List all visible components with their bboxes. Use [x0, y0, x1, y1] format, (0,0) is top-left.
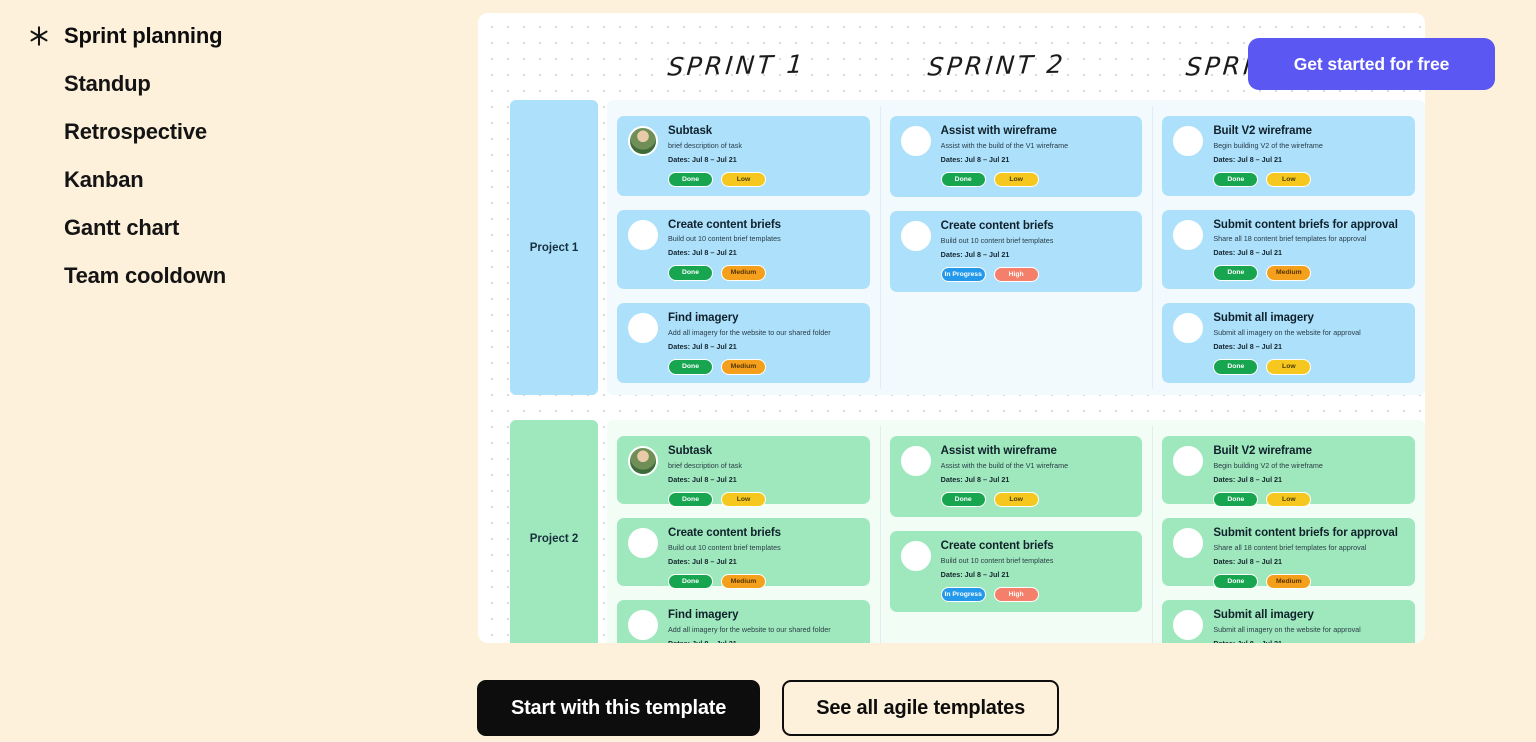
task-description: Submit all imagery on the website for ap…	[1213, 328, 1404, 337]
task-dates: Dates: Jul 8 – Jul 21	[941, 250, 1132, 259]
sidebar-item-label: Retrospective	[64, 119, 207, 145]
status-badge[interactable]: Done	[668, 492, 713, 507]
task-card[interactable]: Create content briefsBuild out 10 conten…	[617, 210, 870, 290]
task-description: Build out 10 content brief templates	[941, 556, 1132, 565]
task-badges: DoneLow	[941, 492, 1132, 507]
status-badge[interactable]: Done	[941, 492, 986, 507]
task-dates: Dates: Jul 8 – Jul 21	[668, 475, 859, 484]
sidebar-item-sprint-planning[interactable]: Sprint planning	[0, 12, 480, 60]
task-card-body: Submit all imagerySubmit all imagery on …	[1213, 312, 1404, 374]
task-title: Subtask	[668, 125, 859, 138]
task-card[interactable]: Assist with wireframeAssist with the bui…	[890, 436, 1143, 517]
task-title: Create content briefs	[941, 540, 1132, 553]
task-card-body: Subtaskbrief description of taskDates: J…	[668, 125, 859, 187]
avatar	[1173, 126, 1203, 156]
sprint-column-1: Subtaskbrief description of taskDates: J…	[607, 420, 880, 643]
task-title: Built V2 wireframe	[1213, 445, 1404, 458]
task-title: Built V2 wireframe	[1213, 125, 1404, 138]
task-dates: Dates: Jul 8 – Jul 21	[941, 475, 1132, 484]
sidebar-item-label: Gantt chart	[64, 215, 179, 241]
avatar	[901, 446, 931, 476]
avatar	[1173, 220, 1203, 250]
task-card-body: Subtaskbrief description of taskDates: J…	[668, 445, 859, 507]
task-badges: DoneMedium	[668, 574, 859, 589]
task-card-body: Create content briefsBuild out 10 conten…	[668, 219, 859, 281]
avatar	[628, 446, 658, 476]
avatar	[1173, 528, 1203, 558]
task-title: Find imagery	[668, 609, 859, 622]
task-card-body: Find imageryAdd all imagery for the webs…	[668, 312, 859, 374]
task-description: Build out 10 content brief templates	[668, 543, 859, 552]
status-badge[interactable]: Done	[1213, 492, 1258, 507]
start-with-template-button[interactable]: Start with this template	[477, 680, 760, 736]
footer-cta-row: Start with this template See all agile t…	[0, 680, 1536, 736]
sidebar-item-label: Kanban	[64, 167, 143, 193]
task-description: Build out 10 content brief templates	[941, 236, 1132, 245]
task-badges: DoneMedium	[668, 359, 859, 374]
sidebar-item-label: Standup	[64, 71, 151, 97]
swimlane-columns: Subtaskbrief description of taskDates: J…	[607, 100, 1425, 395]
task-title: Assist with wireframe	[941, 445, 1132, 458]
status-badge[interactable]: Done	[1213, 359, 1258, 374]
avatar	[901, 126, 931, 156]
status-badge[interactable]: Done	[941, 172, 986, 187]
status-badge[interactable]: Done	[1213, 574, 1258, 589]
task-dates: Dates: Jul 8 – Jul 21	[941, 155, 1132, 164]
task-description: Begin building V2 of the wireframe	[1213, 141, 1404, 150]
task-card[interactable]: Create content briefsBuild out 10 conten…	[890, 211, 1143, 292]
task-title: Create content briefs	[668, 219, 859, 232]
task-dates: Dates: Jul 8 – Jul 21	[1213, 155, 1404, 164]
sidebar-item-team-cooldown[interactable]: Team cooldown	[0, 252, 480, 300]
sparkle-icon	[28, 25, 50, 47]
task-card[interactable]: Assist with wireframeAssist with the bui…	[890, 116, 1143, 197]
priority-badge[interactable]: Low	[721, 172, 766, 187]
swimlane-label[interactable]: Project 2	[510, 420, 598, 643]
priority-badge[interactable]: Medium	[1266, 265, 1311, 280]
task-dates: Dates: Jul 8 – Jul 21	[1213, 557, 1404, 566]
avatar	[901, 541, 931, 571]
avatar	[628, 528, 658, 558]
task-title: Create content briefs	[668, 527, 859, 540]
task-card[interactable]: Subtaskbrief description of taskDates: J…	[617, 436, 870, 504]
get-started-button[interactable]: Get started for free	[1248, 38, 1495, 90]
task-description: brief description of task	[668, 461, 859, 470]
status-badge[interactable]: Done	[668, 359, 713, 374]
task-card-body: Assist with wireframeAssist with the bui…	[941, 125, 1132, 187]
avatar	[901, 221, 931, 251]
task-description: Assist with the build of the V1 wirefram…	[941, 141, 1132, 150]
status-badge[interactable]: Done	[668, 172, 713, 187]
task-card-body: Create content briefsBuild out 10 conten…	[668, 527, 859, 589]
task-card[interactable]: Submit content briefs for approvalShare …	[1162, 518, 1415, 586]
task-dates: Dates: Jul 8 – Jul 21	[668, 557, 859, 566]
task-card[interactable]: Submit all imagerySubmit all imagery on …	[1162, 600, 1415, 643]
swimlane-columns: Subtaskbrief description of taskDates: J…	[607, 420, 1425, 643]
task-dates: Dates: Jul 8 – Jul 21	[1213, 475, 1404, 484]
sprint-column-1: Subtaskbrief description of taskDates: J…	[607, 100, 880, 395]
task-card-body: Assist with wireframeAssist with the bui…	[941, 445, 1132, 507]
avatar	[628, 126, 658, 156]
sprint-header-2: SPRINT 2	[927, 50, 1067, 82]
task-description: Add all imagery for the website to our s…	[668, 328, 859, 337]
task-card[interactable]: Built V2 wireframeBegin building V2 of t…	[1162, 116, 1415, 196]
task-description: Begin building V2 of the wireframe	[1213, 461, 1404, 470]
task-card[interactable]: Subtaskbrief description of taskDates: J…	[617, 116, 870, 196]
priority-badge[interactable]: Low	[721, 492, 766, 507]
task-badges: DoneMedium	[668, 265, 859, 280]
avatar	[628, 220, 658, 250]
task-title: Assist with wireframe	[941, 125, 1132, 138]
task-badges: DoneLow	[1213, 359, 1404, 374]
task-badges: DoneLow	[1213, 492, 1404, 507]
task-badges: In ProgressHigh	[941, 587, 1132, 602]
swimlane-project-2: Project 2Subtaskbrief description of tas…	[510, 420, 1425, 643]
task-dates: Dates: Jul 8 – Jul 21	[668, 248, 859, 257]
priority-badge[interactable]: Medium	[1266, 574, 1311, 589]
avatar	[628, 313, 658, 343]
priority-badge[interactable]: Low	[1266, 359, 1311, 374]
task-badges: DoneLow	[668, 172, 859, 187]
sprint-column-2: Assist with wireframeAssist with the bui…	[880, 420, 1153, 643]
task-dates: Dates: Jul 8 – Jul 21	[1213, 342, 1404, 351]
priority-badge[interactable]: Low	[1266, 172, 1311, 187]
avatar	[1173, 610, 1203, 640]
task-title: Create content briefs	[941, 220, 1132, 233]
status-badge[interactable]: Done	[668, 574, 713, 589]
task-card-body: Submit all imagerySubmit all imagery on …	[1213, 609, 1404, 643]
task-description: Add all imagery for the website to our s…	[668, 625, 859, 634]
avatar	[1173, 446, 1203, 476]
sidebar-item-kanban[interactable]: Kanban	[0, 156, 480, 204]
see-all-agile-templates-button[interactable]: See all agile templates	[782, 680, 1059, 736]
task-dates: Dates: Jul 8 – Jul 21	[1213, 639, 1404, 643]
task-badges: DoneMedium	[1213, 574, 1404, 589]
status-badge[interactable]: Done	[1213, 265, 1258, 280]
task-card-body: Submit content briefs for approvalShare …	[1213, 527, 1404, 589]
task-badges: In ProgressHigh	[941, 267, 1132, 282]
task-title: Subtask	[668, 445, 859, 458]
avatar	[628, 610, 658, 640]
task-title: Find imagery	[668, 312, 859, 325]
sidebar-item-label: Team cooldown	[64, 263, 226, 289]
task-dates: Dates: Jul 8 – Jul 21	[668, 342, 859, 351]
sidebar-item-retrospective[interactable]: Retrospective	[0, 108, 480, 156]
task-description: Share all 18 content brief templates for…	[1213, 543, 1404, 552]
sprint-column-3: Built V2 wireframeBegin building V2 of t…	[1152, 100, 1425, 395]
task-card-body: Built V2 wireframeBegin building V2 of t…	[1213, 445, 1404, 507]
task-card[interactable]: Built V2 wireframeBegin building V2 of t…	[1162, 436, 1415, 504]
status-badge[interactable]: Done	[1213, 172, 1258, 187]
sidebar-item-standup[interactable]: Standup	[0, 60, 480, 108]
task-card-body: Create content briefsBuild out 10 conten…	[941, 540, 1132, 602]
task-card-body: Submit content briefs for approvalShare …	[1213, 219, 1404, 281]
status-badge[interactable]: In Progress	[941, 267, 986, 282]
task-card-body: Find imageryAdd all imagery for the webs…	[668, 609, 859, 643]
priority-badge[interactable]: High	[994, 267, 1039, 282]
template-category-sidebar: Sprint planningStandupRetrospectiveKanba…	[0, 0, 480, 742]
status-badge[interactable]: In Progress	[941, 587, 986, 602]
task-title: Submit all imagery	[1213, 609, 1404, 622]
task-badges: DoneMedium	[1213, 265, 1404, 280]
task-title: Submit content briefs for approval	[1213, 527, 1404, 540]
task-card[interactable]: Create content briefsBuild out 10 conten…	[890, 531, 1143, 612]
task-badges: DoneLow	[941, 172, 1132, 187]
priority-badge[interactable]: Low	[994, 492, 1039, 507]
task-dates: Dates: Jul 8 – Jul 21	[668, 155, 859, 164]
sidebar-item-label: Sprint planning	[64, 23, 222, 49]
task-description: Build out 10 content brief templates	[668, 234, 859, 243]
swimlane-label[interactable]: Project 1	[510, 100, 598, 395]
task-card[interactable]: Submit all imagerySubmit all imagery on …	[1162, 303, 1415, 383]
task-dates: Dates: Jul 8 – Jul 21	[941, 570, 1132, 579]
task-card[interactable]: Find imageryAdd all imagery for the webs…	[617, 303, 870, 383]
avatar	[1173, 313, 1203, 343]
swimlane-label-text: Project 2	[530, 533, 579, 545]
sprint-planning-board-preview: SPRINT 1 SPRINT 2 SPRINT 3 Project 1Subt…	[478, 13, 1425, 643]
task-badges: DoneLow	[1213, 172, 1404, 187]
status-badge[interactable]: Done	[668, 265, 713, 280]
sprint-column-3: Built V2 wireframeBegin building V2 of t…	[1152, 420, 1425, 643]
task-dates: Dates: Jul 8 – Jul 21	[668, 639, 859, 643]
priority-badge[interactable]: Medium	[721, 574, 766, 589]
template-preview-page: Sprint planningStandupRetrospectiveKanba…	[0, 0, 1536, 742]
task-description: Share all 18 content brief templates for…	[1213, 234, 1404, 243]
task-description: Assist with the build of the V1 wirefram…	[941, 461, 1132, 470]
task-title: Submit all imagery	[1213, 312, 1404, 325]
priority-badge[interactable]: Medium	[721, 359, 766, 374]
priority-badge[interactable]: Low	[994, 172, 1039, 187]
priority-badge[interactable]: Medium	[721, 265, 766, 280]
priority-badge[interactable]: High	[994, 587, 1039, 602]
task-card[interactable]: Submit content briefs for approvalShare …	[1162, 210, 1415, 290]
task-dates: Dates: Jul 8 – Jul 21	[1213, 248, 1404, 257]
priority-badge[interactable]: Low	[1266, 492, 1311, 507]
task-card-body: Create content briefsBuild out 10 conten…	[941, 220, 1132, 282]
swimlane-project-1: Project 1Subtaskbrief description of tas…	[510, 100, 1425, 395]
task-card-body: Built V2 wireframeBegin building V2 of t…	[1213, 125, 1404, 187]
sprint-column-2: Assist with wireframeAssist with the bui…	[880, 100, 1153, 395]
task-card[interactable]: Create content briefsBuild out 10 conten…	[617, 518, 870, 586]
task-badges: DoneLow	[668, 492, 859, 507]
task-description: Submit all imagery on the website for ap…	[1213, 625, 1404, 634]
task-card[interactable]: Find imageryAdd all imagery for the webs…	[617, 600, 870, 643]
swimlane-label-text: Project 1	[530, 242, 579, 254]
task-description: brief description of task	[668, 141, 859, 150]
sidebar-item-gantt-chart[interactable]: Gantt chart	[0, 204, 480, 252]
task-title: Submit content briefs for approval	[1213, 219, 1404, 232]
sprint-header-1: SPRINT 1	[667, 50, 807, 82]
